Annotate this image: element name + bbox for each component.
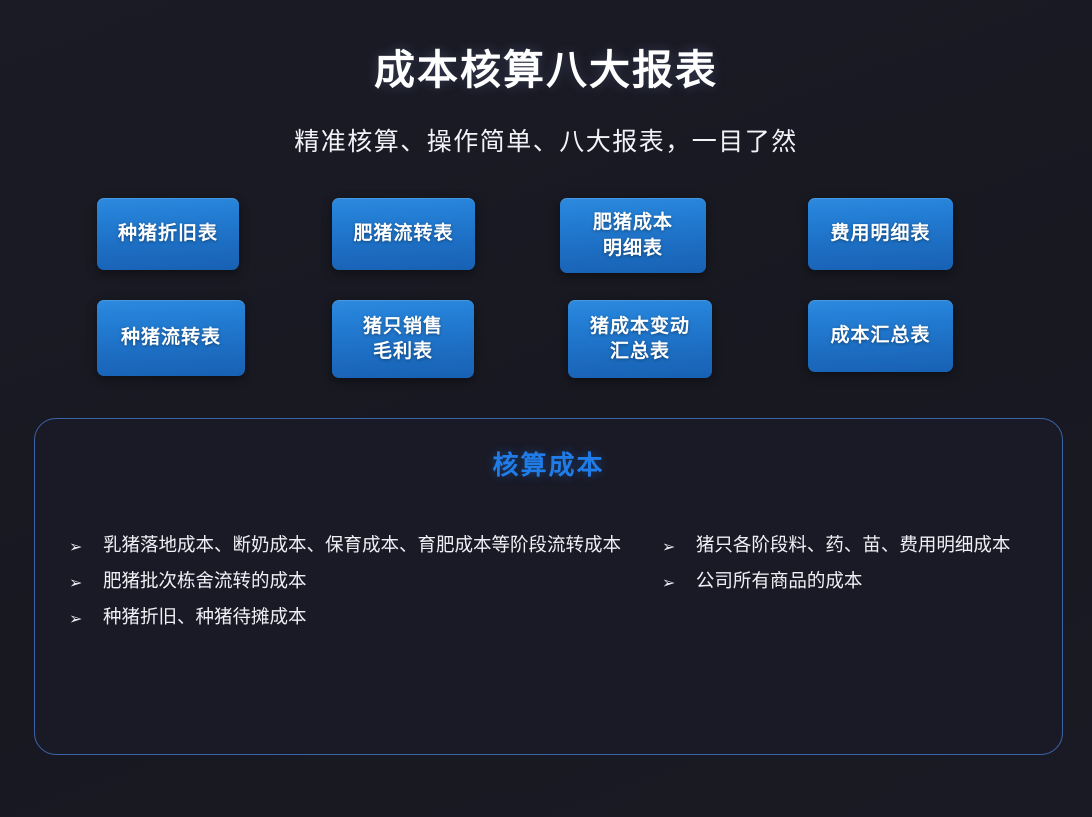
list-item: ➢ 乳猪落地成本、断奶成本、保育成本、育肥成本等阶段流转成本 xyxy=(69,531,638,563)
list-item: ➢ 猪只各阶段料、药、苗、费用明细成本 xyxy=(662,531,1056,563)
arrow-bullet-icon: ➢ xyxy=(69,531,103,562)
report-button-zhu-chengben-biandong-huizong[interactable]: 猪成本变动 汇总表 xyxy=(568,300,712,378)
report-button-label: 种猪折旧表 xyxy=(118,221,218,246)
report-button-feizhu-chengben-mingxi[interactable]: 肥猪成本 明细表 xyxy=(560,198,706,273)
reports-grid: 种猪折旧表 肥猪流转表 肥猪成本 明细表 费用明细表 种猪流转表 猪只销售 毛利… xyxy=(0,198,1092,378)
report-button-label: 成本汇总表 xyxy=(830,323,930,348)
list-item-label: 肥猪批次栋舍流转的成本 xyxy=(103,567,638,599)
panel-columns: ➢ 乳猪落地成本、断奶成本、保育成本、育肥成本等阶段流转成本 ➢ 肥猪批次栋舍流… xyxy=(35,531,1062,638)
arrow-bullet-icon: ➢ xyxy=(662,531,696,562)
list-item-label: 种猪折旧、种猪待摊成本 xyxy=(103,603,638,635)
slide-root: 成本核算八大报表 精准核算、操作简单、八大报表，一目了然 种猪折旧表 肥猪流转表… xyxy=(0,0,1092,817)
report-button-label: 种猪流转表 xyxy=(121,325,221,350)
panel-title: 核算成本 xyxy=(35,445,1062,482)
report-button-zhongzhu-zhejiu[interactable]: 种猪折旧表 xyxy=(97,198,239,270)
report-button-label: 猪成本变动 汇总表 xyxy=(590,314,690,364)
report-button-chengben-huizong[interactable]: 成本汇总表 xyxy=(808,300,953,372)
list-item: ➢ 种猪折旧、种猪待摊成本 xyxy=(69,603,638,635)
list-item-label: 乳猪落地成本、断奶成本、保育成本、育肥成本等阶段流转成本 xyxy=(103,531,638,563)
report-button-label: 费用明细表 xyxy=(830,221,930,246)
report-button-label: 肥猪流转表 xyxy=(353,221,453,246)
page-title: 成本核算八大报表 xyxy=(0,36,1092,96)
report-button-label: 肥猪成本 明细表 xyxy=(593,210,673,260)
report-button-zhuzhi-xiaoshou-maoli[interactable]: 猪只销售 毛利表 xyxy=(332,300,474,378)
arrow-bullet-icon: ➢ xyxy=(662,567,696,598)
list-item: ➢ 肥猪批次栋舍流转的成本 xyxy=(69,567,638,599)
cost-accounting-panel: 核算成本 ➢ 乳猪落地成本、断奶成本、保育成本、育肥成本等阶段流转成本 ➢ 肥猪… xyxy=(34,418,1063,755)
panel-column-right: ➢ 猪只各阶段料、药、苗、费用明细成本 ➢ 公司所有商品的成本 xyxy=(646,531,1062,638)
report-button-feiyong-mingxi[interactable]: 费用明细表 xyxy=(808,198,953,270)
arrow-bullet-icon: ➢ xyxy=(69,567,103,598)
report-button-label: 猪只销售 毛利表 xyxy=(363,314,443,364)
list-item-label: 猪只各阶段料、药、苗、费用明细成本 xyxy=(696,531,1056,563)
report-button-feizhu-liuzhuan[interactable]: 肥猪流转表 xyxy=(332,198,475,270)
report-button-zhongzhu-liuzhuan[interactable]: 种猪流转表 xyxy=(97,300,245,376)
page-subtitle: 精准核算、操作简单、八大报表，一目了然 xyxy=(0,122,1092,158)
list-item-label: 公司所有商品的成本 xyxy=(696,567,1056,599)
panel-column-left: ➢ 乳猪落地成本、断奶成本、保育成本、育肥成本等阶段流转成本 ➢ 肥猪批次栋舍流… xyxy=(35,531,646,638)
arrow-bullet-icon: ➢ xyxy=(69,603,103,634)
list-item: ➢ 公司所有商品的成本 xyxy=(662,567,1056,599)
